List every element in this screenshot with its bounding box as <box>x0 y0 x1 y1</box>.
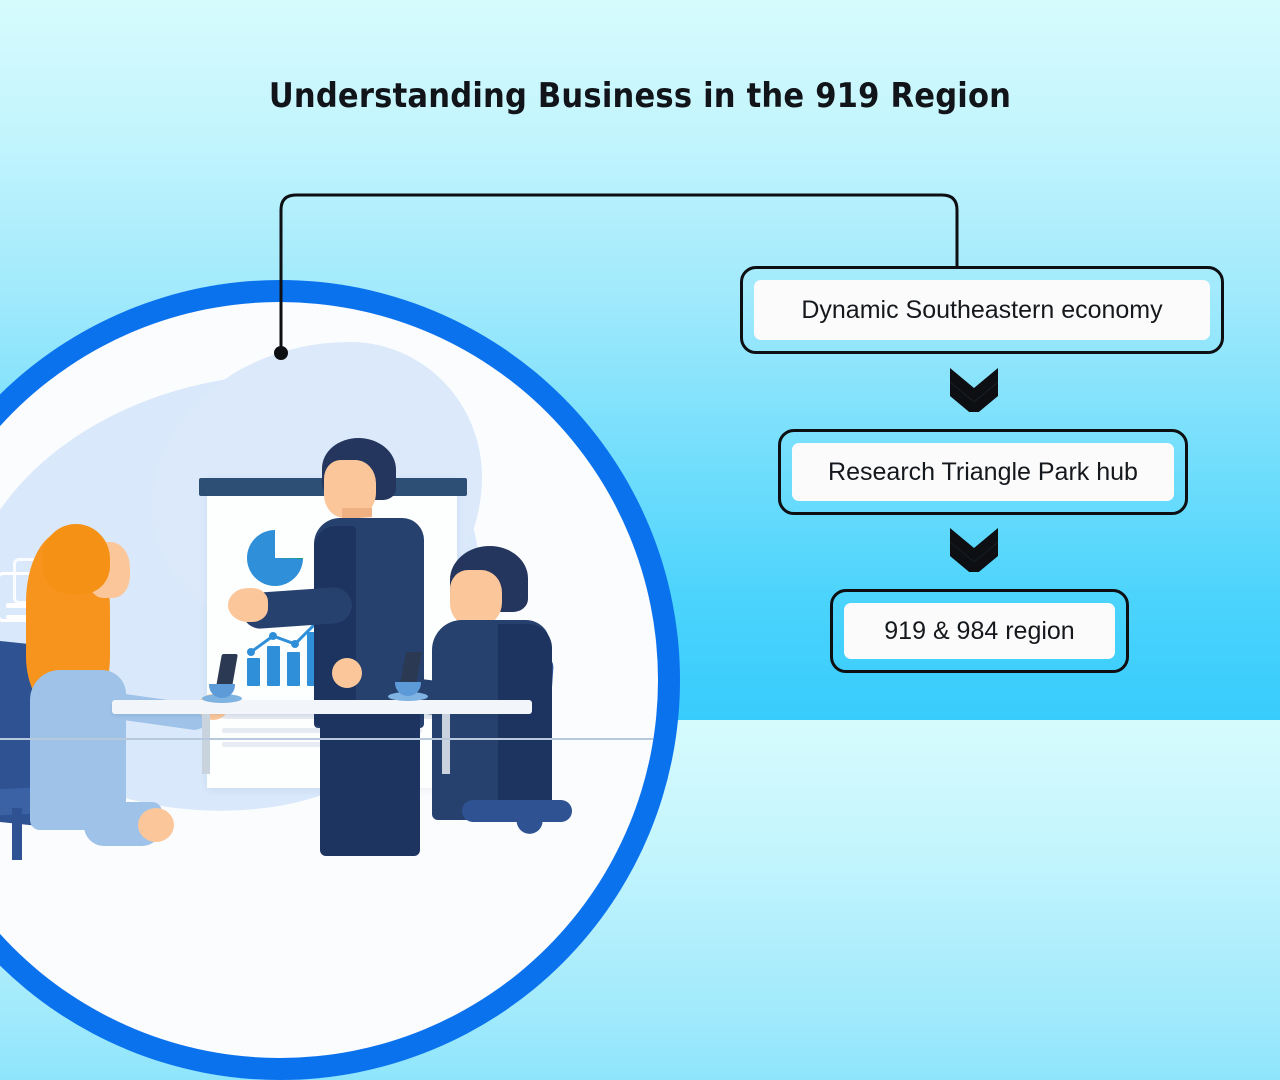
pie-chart-notch <box>275 530 303 558</box>
flow-step-3-label: 919 & 984 region <box>844 603 1115 659</box>
flow-step-3[interactable]: 919 & 984 region <box>830 589 1129 673</box>
floor-line <box>0 738 658 740</box>
slide-canvas: Understanding Business in the 919 Region <box>0 0 1280 720</box>
conference-table <box>112 700 532 714</box>
flow-step-1[interactable]: Dynamic Southeastern economy <box>740 266 1224 354</box>
man2-suit-shadow <box>498 624 552 820</box>
presenter-legs <box>320 706 420 856</box>
table-leg-left <box>202 714 210 774</box>
flow-step-2[interactable]: Research Triangle Park hub <box>778 429 1188 515</box>
business-meeting-illustration <box>0 280 680 740</box>
page-title: Understanding Business in the 919 Region <box>0 76 1280 116</box>
presenter-suit-shadow <box>314 526 356 726</box>
presenter-hand <box>228 588 268 622</box>
chair-man-seat <box>462 800 572 822</box>
flow-step-2-label: Research Triangle Park hub <box>792 443 1174 501</box>
card-strip-secondary <box>6 615 28 619</box>
woman-hair-top <box>42 524 110 594</box>
table-leg-right <box>442 714 450 774</box>
double-chevron-down-icon <box>946 526 1002 572</box>
man2-face <box>450 570 502 626</box>
double-chevron-down-icon <box>946 366 1002 412</box>
chair-woman-leg <box>12 808 22 860</box>
presenter-hand-pocket <box>332 658 362 688</box>
flow-step-1-label: Dynamic Southeastern economy <box>754 280 1210 340</box>
woman-knee <box>138 808 174 842</box>
